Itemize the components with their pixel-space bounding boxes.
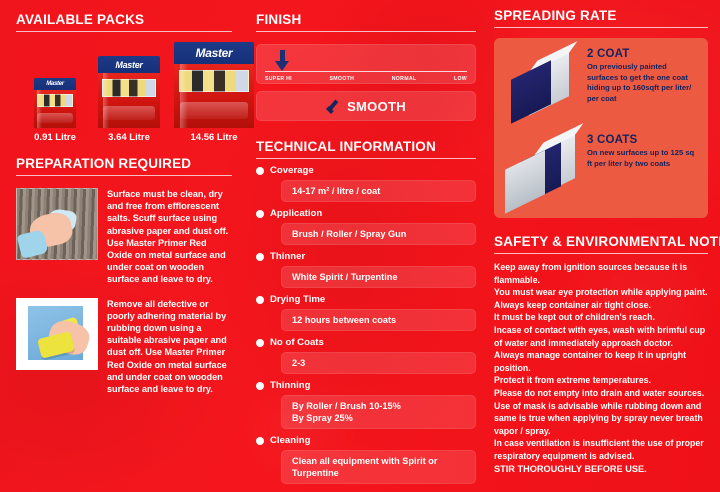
heading-rule [256, 31, 476, 32]
two-coat-panels-icon [503, 48, 579, 120]
sleeve-cuff-shape [16, 229, 48, 259]
can-script-label [37, 113, 72, 123]
bullet-dot-icon [256, 339, 264, 347]
pack-can-large: Master 14.56 Litre [174, 42, 254, 128]
technical-information-section: TECHNICAL INFORMATION Coverage 14-17 m² … [256, 139, 476, 484]
bullet-dot-icon [256, 167, 264, 175]
rubbing-down-wall-photo [16, 298, 98, 370]
can-brand-medium: Master [98, 56, 160, 73]
pack-sizes-row: Master 0.91 Litre Master [16, 42, 232, 128]
tech-label: Cleaning [256, 435, 476, 446]
pack-can-medium: Master 3.64 Litre [98, 56, 160, 128]
coat-block-3: 3 COATS On new surfaces up to 125 sq ft … [503, 134, 699, 206]
available-packs-heading: AVAILABLE PACKS [16, 12, 232, 27]
scale-line [265, 71, 467, 72]
tech-label: Drying Time [256, 294, 476, 305]
coat-text-2: 2 COAT On previously painted surfaces to… [587, 48, 699, 104]
can-brand-small: Master [34, 78, 76, 90]
tech-row-cleaning: Cleaning Clean all equipment with Spirit… [256, 435, 476, 484]
bullet-dot-icon [256, 382, 264, 390]
tech-value-thinning: By Roller / Brush 10-15% By Spray 25% [281, 395, 476, 429]
safety-notes-heading: SAFETY & ENVIRONMENTAL NOTES [494, 234, 708, 249]
tech-value-coverage: 14-17 m² / litre / coat [281, 180, 476, 202]
scale-label-normal: NORMAL [392, 76, 417, 82]
product-datasheet: AVAILABLE PACKS Master 0.91 Litre [0, 0, 720, 492]
can-script-label [103, 106, 155, 120]
finish-scale: SUPER HI SMOOTH NORMAL LOW [256, 44, 476, 84]
tech-label: Thinning [256, 380, 476, 391]
middle-column: FINISH SUPER HI SMOOTH NORMAL LOW SMOOTH [246, 0, 486, 492]
preparation-item: Remove all defective or poorly adhering … [16, 298, 232, 396]
tech-row-coverage: Coverage 14-17 m² / litre / coat [256, 165, 476, 202]
safety-stir-warning: STIR THOROUGHLY BEFORE USE. [494, 464, 708, 474]
available-packs-section: AVAILABLE PACKS Master 0.91 Litre [16, 12, 232, 128]
bullet-dot-icon [256, 296, 264, 304]
coat-desc-2: On previously painted surfaces to get th… [587, 62, 699, 104]
preparation-section: PREPARATION REQUIRED Surface must be cle… [16, 156, 232, 395]
preparation-heading: PREPARATION REQUIRED [16, 156, 232, 171]
bullet-dot-icon [256, 253, 264, 261]
bullet-dot-icon [256, 210, 264, 218]
tech-label-text: Cleaning [270, 435, 311, 446]
right-column: SPREADING RATE 2 COAT On previously [486, 0, 720, 492]
scale-label-low: LOW [454, 76, 467, 82]
safety-notes-body: Keep away from ignition sources because … [494, 261, 708, 463]
spreading-rate-panel: 2 COAT On previously painted surfaces to… [494, 38, 708, 218]
tech-label: Application [256, 208, 476, 219]
tech-label-text: Thinning [270, 380, 311, 391]
technical-information-heading: TECHNICAL INFORMATION [256, 139, 476, 154]
can-swatch-strip [37, 94, 74, 107]
scale-label-super-hi: SUPER HI [265, 76, 292, 82]
finish-selected-label: SMOOTH [347, 99, 406, 114]
tech-value-drying-time: 12 hours between coats [281, 309, 476, 331]
sponge-shape [38, 331, 75, 358]
coat-block-2: 2 COAT On previously painted surfaces to… [503, 48, 699, 120]
tech-label: Coverage [256, 165, 476, 176]
finish-selected-badge: SMOOTH [256, 91, 476, 121]
left-column: AVAILABLE PACKS Master 0.91 Litre [0, 0, 246, 492]
tech-value-thinner: White Spirit / Turpentine [281, 266, 476, 288]
can-shine [103, 73, 109, 128]
heading-rule [256, 158, 476, 159]
coat-title-2: 2 COAT [587, 48, 699, 60]
tech-label-text: No of Coats [270, 337, 324, 348]
pack-can-small: Master 0.91 Litre [34, 78, 76, 128]
tech-row-no-of-coats: No of Coats 2-3 [256, 337, 476, 374]
tech-label-text: Thinner [270, 251, 305, 262]
can-shine [180, 64, 188, 128]
tech-label-text: Application [270, 208, 322, 219]
coat-text-3: 3 COATS On new surfaces up to 125 sq ft … [587, 134, 699, 169]
finish-section: FINISH SUPER HI SMOOTH NORMAL LOW SMOOTH [256, 12, 476, 121]
heading-rule [494, 27, 708, 28]
three-coat-panels-icon [503, 134, 579, 206]
can-script-label [180, 102, 247, 119]
check-icon [326, 101, 342, 112]
tech-value-application: Brush / Roller / Spray Gun [281, 223, 476, 245]
tech-row-application: Application Brush / Roller / Spray Gun [256, 208, 476, 245]
pack-label-large: 14.56 Litre [191, 132, 238, 143]
spreading-rate-section: SPREADING RATE 2 COAT On previously [494, 8, 708, 218]
coat-title-3: 3 COATS [587, 134, 699, 146]
scale-label-smooth: SMOOTH [330, 76, 355, 82]
coat-desc-3: On new surfaces up to 125 sq ft per lite… [587, 148, 699, 169]
spreading-rate-heading: SPREADING RATE [494, 8, 708, 23]
can-brand-large: Master [174, 42, 254, 64]
preparation-text-1: Surface must be clean, dry and free from… [107, 188, 232, 286]
pack-label-small: 0.91 Litre [34, 132, 76, 143]
can-swatch-strip [102, 79, 157, 98]
tech-value-cleaning: Clean all equipment with Spirit or Turpe… [281, 450, 476, 484]
preparation-item: Surface must be clean, dry and free from… [16, 188, 232, 286]
heading-rule [16, 175, 232, 176]
pack-label-medium: 3.64 Litre [108, 132, 150, 143]
tech-label: No of Coats [256, 337, 476, 348]
can-shine [37, 90, 41, 128]
scale-labels: SUPER HI SMOOTH NORMAL LOW [265, 76, 467, 82]
preparation-text-2: Remove all defective or poorly adhering … [107, 298, 232, 396]
sanding-wood-surface-photo [16, 188, 98, 260]
heading-rule [16, 31, 232, 32]
safety-notes-section: SAFETY & ENVIRONMENTAL NOTES Keep away f… [494, 234, 708, 474]
finish-heading: FINISH [256, 12, 476, 27]
tech-value-no-of-coats: 2-3 [281, 352, 476, 374]
heading-rule [494, 253, 708, 254]
can-swatch-strip [179, 70, 249, 92]
tech-row-thinner: Thinner White Spirit / Turpentine [256, 251, 476, 288]
tech-label-text: Drying Time [270, 294, 325, 305]
tech-row-thinning: Thinning By Roller / Brush 10-15% By Spr… [256, 380, 476, 429]
tech-row-drying-time: Drying Time 12 hours between coats [256, 294, 476, 331]
tech-label: Thinner [256, 251, 476, 262]
tech-label-text: Coverage [270, 165, 314, 176]
bullet-dot-icon [256, 437, 264, 445]
